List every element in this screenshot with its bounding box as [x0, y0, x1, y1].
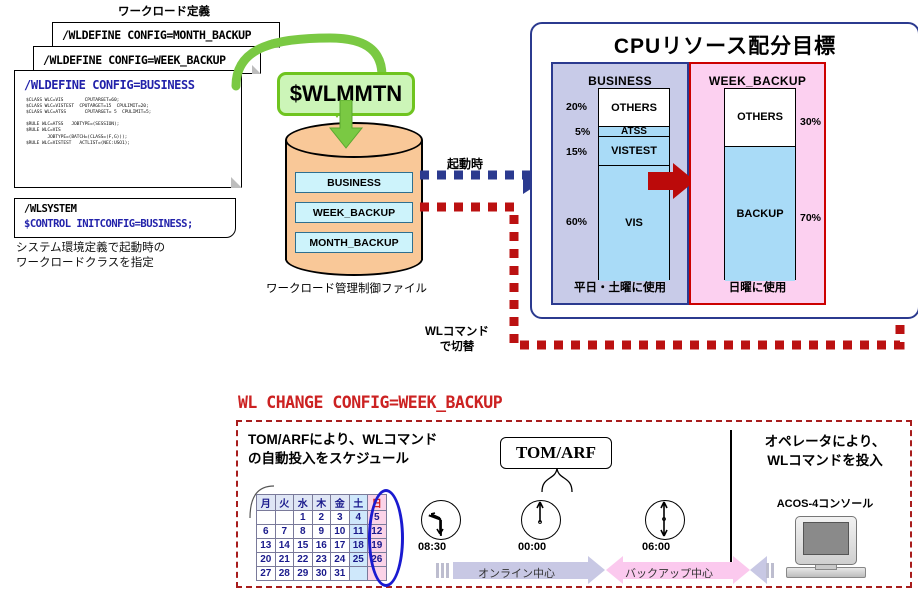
clock-time-0600: 06:00: [642, 541, 670, 553]
clock-time-0830: 08:30: [418, 541, 446, 553]
calendar-header-mon: 月: [257, 495, 276, 511]
calendar-cell[interactable]: 17: [331, 539, 350, 553]
calendar-cell[interactable]: 2: [312, 511, 331, 525]
business-column-footer: 平日・土曜に使用: [553, 279, 687, 295]
business-column-title: BUSINESS: [553, 74, 687, 88]
clock-time-0000: 00:00: [518, 541, 546, 553]
week-backup-column-footer: 日曜に使用: [691, 279, 824, 295]
blue-dotted-line: [420, 168, 530, 182]
calendar-row: 2728293031: [257, 567, 387, 581]
page-fold-icon: [231, 177, 242, 188]
calendar-cell[interactable]: 7: [275, 525, 294, 539]
calendar-header-fri: 金: [331, 495, 350, 511]
calendar-cell[interactable]: 25: [349, 553, 368, 567]
operator-title: オペレータにより、 WLコマンドを投入: [745, 432, 905, 470]
timeline-tick: [446, 563, 449, 578]
calendar-cell[interactable]: 6: [257, 525, 276, 539]
business-pct-others: 20%: [566, 101, 587, 113]
calendar-cell[interactable]: 29: [294, 567, 313, 581]
wlsystem-caption-line2: ワークロードクラスを指定: [16, 256, 165, 271]
tom-arf-title: TOM/ARFにより、WLコマンド の自動投入をスケジュール: [248, 430, 437, 468]
control-file-slot-month-backup[interactable]: MONTH_BACKUP: [295, 232, 413, 253]
bar-segment-backup: BACKUP: [725, 147, 795, 281]
calendar-header-thu: 木: [312, 495, 331, 511]
week-backup-stacked-bar: OTHERS BACKUP: [724, 88, 796, 280]
calendar-header-wed: 水: [294, 495, 313, 511]
green-down-arrow-icon: [326, 100, 366, 150]
bar-segment-vistest: VISTEST: [599, 137, 669, 166]
tom-arf-title-line1: TOM/ARFにより、WLコマンド: [248, 430, 437, 449]
business-pct-atss: 5%: [575, 126, 590, 138]
calendar-cell[interactable]: 30: [312, 567, 331, 581]
calendar-cell[interactable]: 18: [349, 539, 368, 553]
monitor-screen-icon: [803, 522, 849, 555]
switch-command-label: WLコマンド で切替: [418, 325, 496, 355]
calendar-row: 12345: [257, 511, 387, 525]
calendar-cell[interactable]: 22: [294, 553, 313, 567]
calendar[interactable]: 月 火 水 木 金 土 日 12345 6789101112 131415161…: [256, 494, 387, 581]
calendar-header-row: 月 火 水 木 金 土 日: [257, 495, 387, 511]
clock-0000-hands: [531, 500, 551, 524]
clock-0830-hands: [431, 503, 453, 536]
wlsystem-caption-line1: システム環境定義で起動時の: [16, 241, 165, 256]
timeline-end-tail-icon: [750, 556, 767, 584]
calendar-cell[interactable]: 3: [331, 511, 350, 525]
calendar-cell[interactable]: 14: [275, 539, 294, 553]
timeline-backup-label: バックアップ中心: [625, 565, 713, 581]
workload-doc-header: /WLDEFINE CONFIG=WEEK_BACKUP: [43, 53, 226, 67]
workload-doc-header: /WLDEFINE CONFIG=MONTH_BACKUP: [62, 28, 251, 42]
tom-arf-badge: TOM/ARF: [500, 437, 612, 469]
week-backup-pct-others: 30%: [800, 116, 821, 128]
calendar-cell[interactable]: 1: [294, 511, 313, 525]
workload-doc-business: /WLDEFINE CONFIG=BUSINESS $CLASS WLC=VIS…: [14, 70, 242, 188]
calendar-cell[interactable]: 23: [312, 553, 331, 567]
workload-definition-caption: ワークロード定義: [118, 3, 210, 19]
clock-0600-hands: [655, 500, 675, 538]
calendar-cell[interactable]: 31: [331, 567, 350, 581]
calendar-cell[interactable]: [275, 511, 294, 525]
timeline-online-label: オンライン中心: [478, 565, 555, 581]
week-backup-column-title: WEEK_BACKUP: [691, 74, 824, 88]
calendar-cell[interactable]: 8: [294, 525, 313, 539]
switch-command-line1: WLコマンド: [418, 325, 496, 340]
cpu-panel-title: CPUリソース配分目標: [530, 30, 918, 60]
business-pct-vistest: 15%: [566, 146, 587, 158]
control-file-slot-week-backup[interactable]: WEEK_BACKUP: [295, 202, 413, 223]
calendar-cell[interactable]: 21: [275, 553, 294, 567]
calendar-row: 13141516171819: [257, 539, 387, 553]
calendar-header-tue: 火: [275, 495, 294, 511]
control-file-caption: ワークロード管理制御ファイル: [266, 280, 427, 296]
bar-segment-atss: ATSS: [599, 127, 669, 137]
wlsystem-line2: $CONTROL INITCONFIG=BUSINESS;: [24, 218, 193, 230]
business-pct-vis: 60%: [566, 216, 587, 228]
calendar-cell[interactable]: 11: [349, 525, 368, 539]
timeline-backup-tail-icon: [606, 556, 623, 584]
timeline-tick: [771, 563, 774, 578]
calendar-cell[interactable]: 27: [257, 567, 276, 581]
calendar-cell[interactable]: [349, 567, 368, 581]
timeline-online-arrow-icon: [588, 556, 605, 584]
timeline-backup-arrow-icon: [733, 556, 750, 584]
timeline-tick: [441, 563, 444, 578]
workload-doc-header: /WLDEFINE CONFIG=BUSINESS: [24, 78, 195, 92]
control-file-slot-business[interactable]: BUSINESS: [295, 172, 413, 193]
calendar-cell[interactable]: 13: [257, 539, 276, 553]
workload-doc-code: $CLASS WLC=VIS CPUTARGET=60; $CLASS WLC=…: [26, 98, 235, 147]
wl-change-command-label: WL CHANGE CONFIG=WEEK_BACKUP: [238, 393, 502, 412]
calendar-cell[interactable]: 28: [275, 567, 294, 581]
operator-title-line1: オペレータにより、: [745, 432, 905, 451]
tom-arf-title-line2: の自動投入をスケジュール: [248, 449, 437, 468]
calendar-cell[interactable]: 4: [349, 511, 368, 525]
calendar-cell[interactable]: [257, 511, 276, 525]
bar-segment-others: OTHERS: [599, 89, 669, 127]
tom-arf-brace-icon: [540, 466, 574, 492]
calendar-cell[interactable]: 10: [331, 525, 350, 539]
red-transition-arrow-body: [648, 172, 675, 190]
sunday-highlight-ellipse: [368, 489, 404, 587]
timeline-tick: [766, 563, 769, 578]
calendar-cell[interactable]: 20: [257, 553, 276, 567]
console-label: ACOS-4コンソール: [745, 495, 905, 511]
timeline-tick: [436, 563, 439, 578]
calendar-row: 6789101112: [257, 525, 387, 539]
bottom-divider: [730, 430, 732, 578]
calendar-cell[interactable]: 9: [312, 525, 331, 539]
wlsystem-doc: /WLSYSTEM $CONTROL INITCONFIG=BUSINESS;: [14, 198, 236, 238]
calendar-cell[interactable]: 24: [331, 553, 350, 567]
wlsystem-line1: /WLSYSTEM: [24, 203, 76, 215]
operator-title-line2: WLコマンドを投入: [745, 451, 905, 470]
switch-command-line2: で切替: [418, 340, 496, 355]
calendar-row: 20212223242526: [257, 553, 387, 567]
calendar-cell[interactable]: 16: [312, 539, 331, 553]
week-backup-pct-backup: 70%: [800, 212, 821, 224]
calendar-cell[interactable]: 15: [294, 539, 313, 553]
bar-segment-others: OTHERS: [725, 89, 795, 147]
calendar-header-sat: 土: [349, 495, 368, 511]
wlsystem-caption: システム環境定義で起動時の ワークロードクラスを指定: [16, 241, 165, 271]
